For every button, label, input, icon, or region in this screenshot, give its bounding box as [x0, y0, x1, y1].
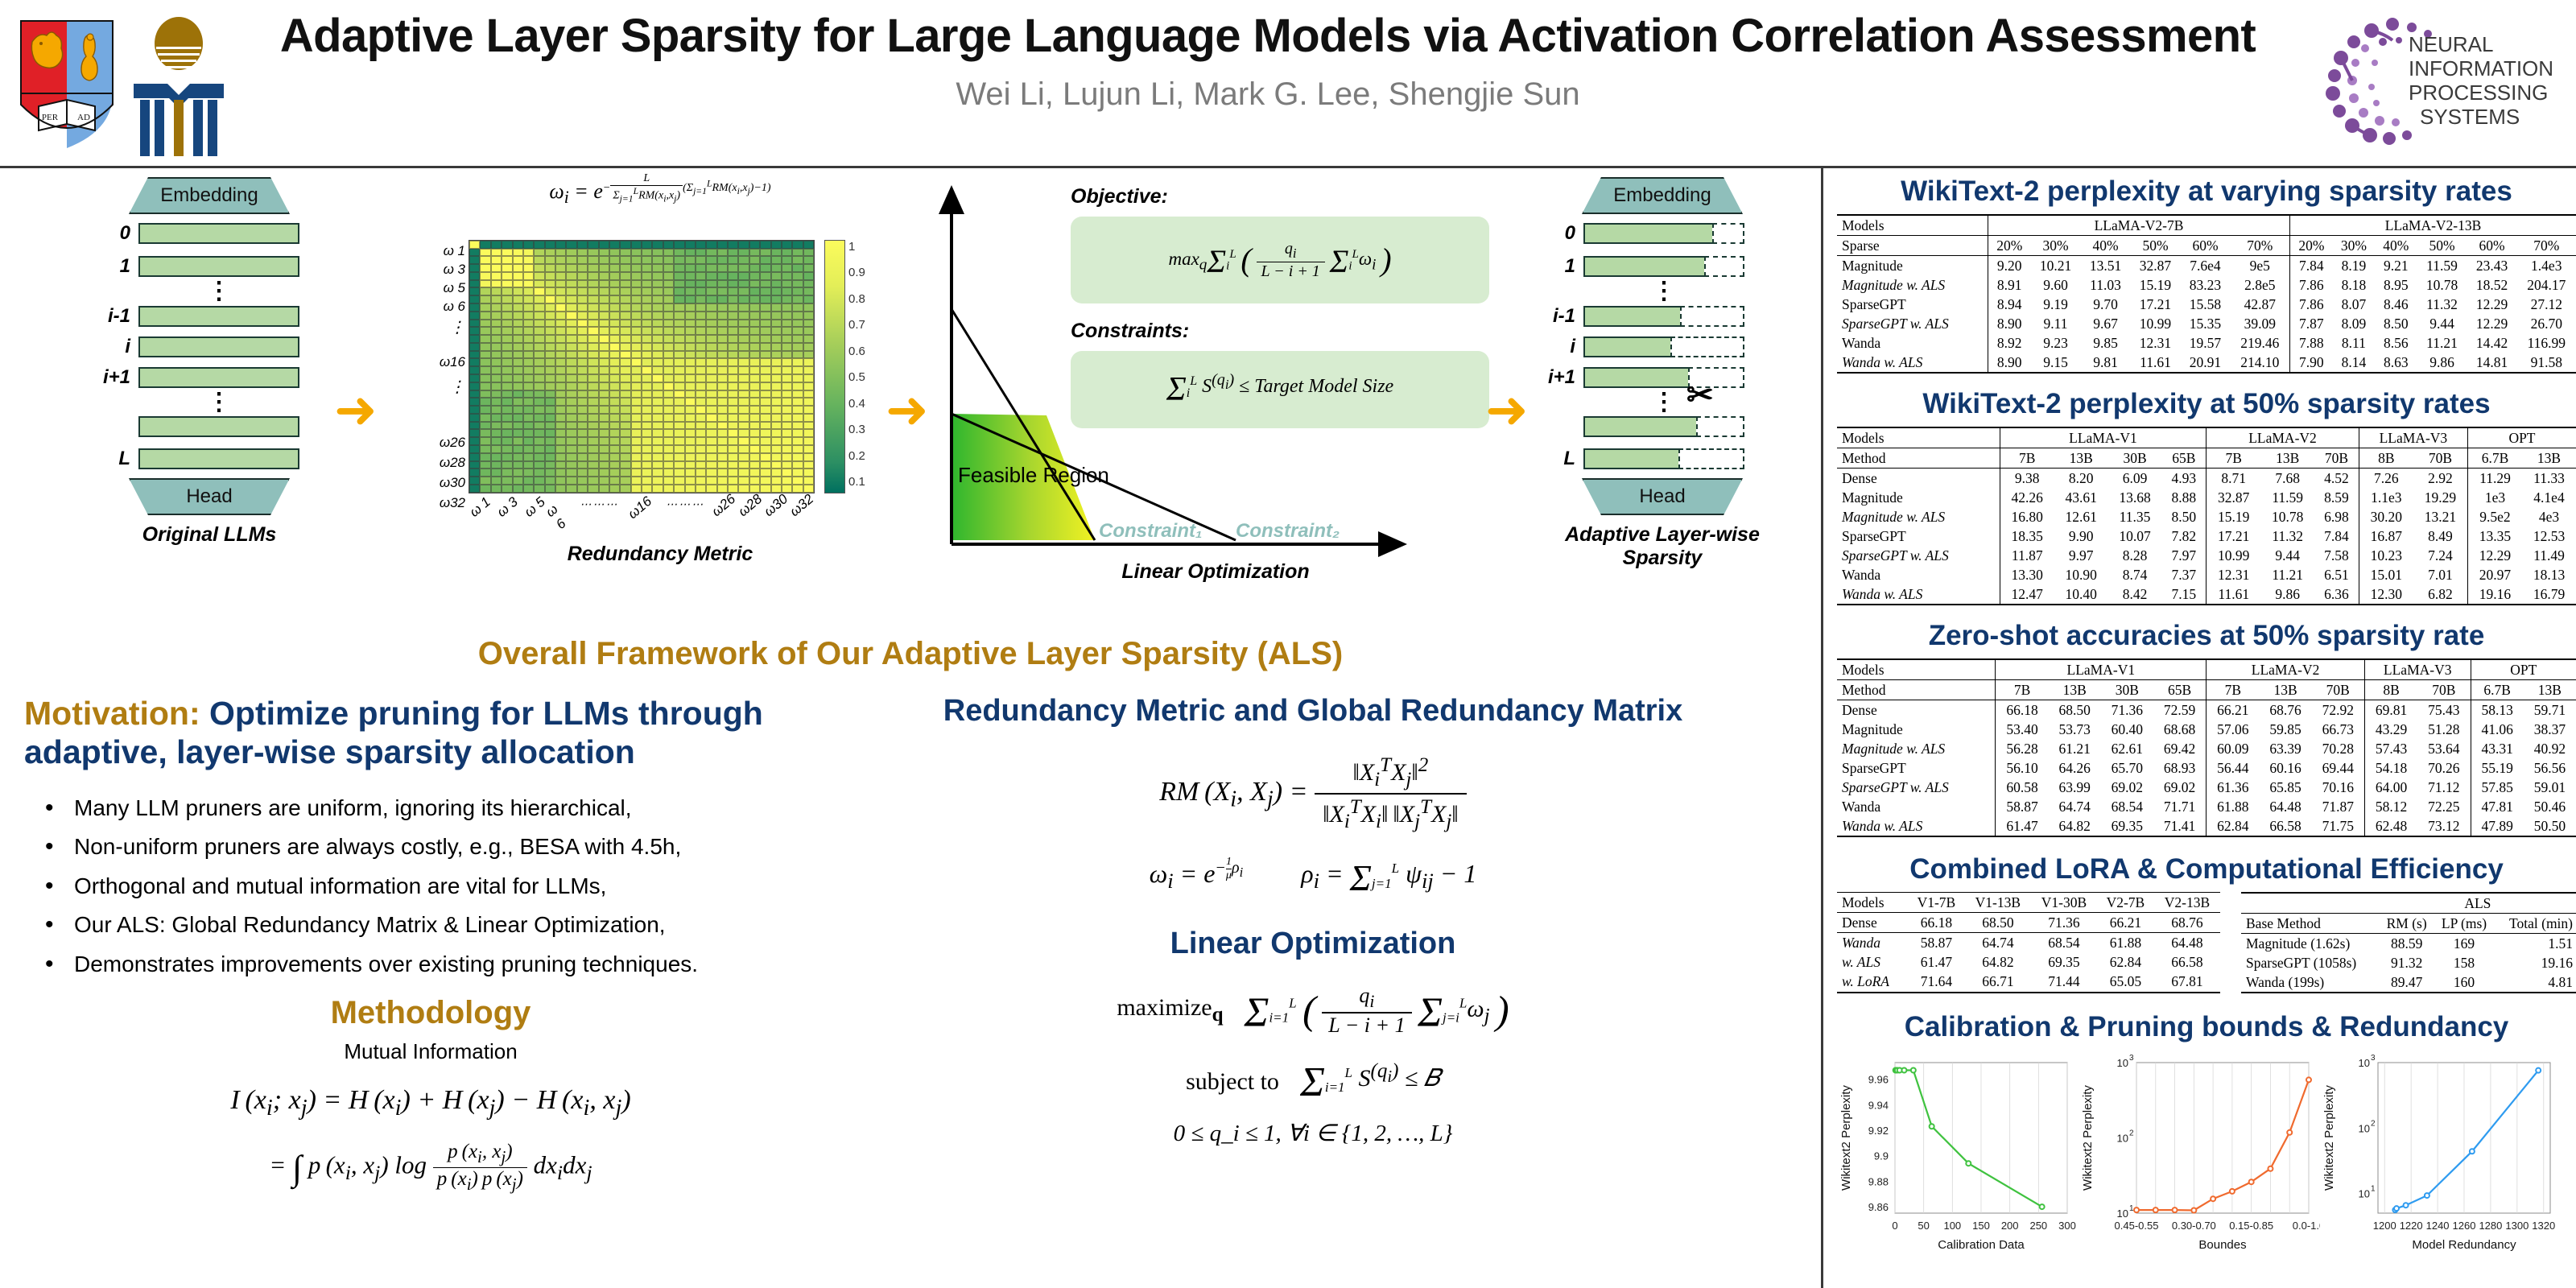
table-cell: 8.19	[2333, 256, 2375, 276]
university-secondary-logo	[127, 10, 230, 159]
heatmap-cell	[717, 477, 728, 485]
table-cell: 70.16	[2312, 778, 2365, 797]
heatmap-cell	[706, 398, 716, 406]
heatmap-cell	[803, 437, 814, 445]
layer-bar-pruned	[1678, 448, 1744, 469]
heatmap-cell	[728, 287, 738, 295]
heatmap-cell	[555, 303, 566, 312]
heatmap-cell	[674, 453, 684, 461]
heatmap-cell	[577, 264, 588, 272]
table-group-header: ModelsLLaMA-V1LLaMA-V2LLaMA-V3OPT	[1837, 659, 2576, 680]
table-cell: LP (ms)	[2434, 914, 2495, 934]
constraint2-label: Constraint₂	[1236, 520, 1340, 543]
table-cell: 68.50	[2049, 700, 2101, 720]
heatmap-cell	[555, 335, 566, 343]
heatmap-cell	[642, 366, 652, 374]
heatmap-cell	[609, 453, 620, 461]
table-cell: 58.13	[2471, 700, 2524, 720]
table-cell: 11.61	[2131, 353, 2181, 373]
heatmap-cell	[642, 358, 652, 366]
heatmap-cell	[599, 390, 609, 398]
heatmap-cell	[609, 256, 620, 264]
heatmap-cell	[652, 406, 663, 414]
heatmap-cell	[480, 477, 490, 485]
heatmap-cell	[609, 390, 620, 398]
heatmap-cell	[749, 256, 760, 264]
heatmap-cell	[803, 406, 814, 414]
table-cell: 30.20	[2359, 507, 2413, 526]
heatmap-cell	[566, 287, 576, 295]
table-cell: 71.64	[1908, 972, 1965, 993]
heatmap-cell	[469, 272, 480, 280]
heatmap-cell	[663, 469, 674, 477]
heatmap-cell	[642, 469, 652, 477]
heatmap-cell	[491, 280, 502, 288]
table-cell: 47.81	[2471, 797, 2524, 816]
heatmap-cell	[491, 469, 502, 477]
heatmap-cell	[674, 422, 684, 430]
heatmap-cell	[782, 414, 792, 422]
heatmap-cell	[696, 295, 706, 303]
heatmap-cell	[663, 437, 674, 445]
heatmap-cell	[728, 429, 738, 437]
heatmap-cell	[749, 249, 760, 257]
heatmap-cell	[652, 303, 663, 312]
table-cell: 50%	[2131, 236, 2181, 256]
table-row: SparseGPT w. ALS8.909.119.6710.9915.3539…	[1837, 314, 2576, 333]
heatmap-cell	[771, 453, 782, 461]
heatmap-cell	[663, 287, 674, 295]
heatmap-cell	[566, 374, 576, 382]
heatmap-cell	[480, 312, 490, 320]
omega-equation: ωi = e −LΣj=1LRM(xi,xj)(Σj=1LRM(xi,xj)−1…	[419, 172, 902, 208]
table-cell: 7.97	[2161, 546, 2206, 565]
heatmap-cell	[599, 422, 609, 430]
table-cell: 11.03	[2081, 275, 2131, 295]
table-cell: 13B	[2054, 448, 2108, 469]
heatmap-cell	[599, 374, 609, 382]
heatmap-cell	[469, 280, 480, 288]
heatmap-cell	[577, 280, 588, 288]
table-cell: 70.28	[2312, 739, 2365, 758]
table-cell: 4.81	[2494, 972, 2576, 993]
heatmap-col-label: ω 1	[467, 490, 498, 520]
heatmap-cell	[663, 327, 674, 335]
heatmap-cell	[652, 477, 663, 485]
university-crest-logo: PER AD	[14, 10, 119, 159]
layer-label-i: i	[1542, 336, 1583, 358]
table-cell: 8.56	[2375, 333, 2417, 353]
heatmap-cell	[513, 422, 523, 430]
heatmap-cell	[663, 382, 674, 390]
table-cell: 42.26	[2000, 488, 2054, 507]
x-tick-label: 150	[1972, 1220, 1990, 1232]
table-cell: 50%	[2417, 236, 2467, 256]
objective-label: Objective:	[1071, 185, 1489, 208]
mutual-information-eq1: I (xi; xj) = H (xi) + H (xj) − H (xi, xj…	[24, 1085, 837, 1121]
heatmap-cell	[642, 272, 652, 280]
heatmap-cell	[663, 406, 674, 414]
heatmap-cell	[502, 351, 512, 359]
heatmap-cell	[534, 422, 544, 430]
heatmap-cell	[523, 320, 534, 328]
table-cell: 8.28	[2108, 546, 2162, 565]
heatmap-cell	[782, 398, 792, 406]
table-cell: 13B	[2522, 448, 2576, 469]
layer-bar-kept	[1583, 223, 1712, 244]
heatmap-cell	[717, 303, 728, 312]
table-cell: 11.61	[2207, 584, 2261, 605]
heatmap-cell	[803, 249, 814, 257]
layer-bar-pruned	[1670, 336, 1744, 357]
heatmap-cell	[792, 272, 803, 280]
heatmap-cell	[706, 422, 716, 430]
heatmap-cell	[782, 429, 792, 437]
heatmap-cell	[588, 320, 598, 328]
layer-bar-kept	[1583, 448, 1678, 469]
table-cell: 10.78	[2417, 275, 2467, 295]
layer-label-i-1: i-1	[97, 305, 138, 328]
heatmap-cell	[502, 414, 512, 422]
motivation-heading: Motivation: Optimize pruning for LLMs th…	[24, 694, 837, 772]
motivation-bullet: Demonstrates improvements over existing …	[45, 947, 837, 982]
heatmap-cell	[513, 280, 523, 288]
constraints-equation-box: ΣiL S(qi) ≤ Target Model Size	[1071, 351, 1489, 428]
table-row-label: Wanda w. ALS	[1837, 584, 2000, 605]
heatmap-cell	[534, 303, 544, 312]
heatmap-cell	[696, 241, 706, 249]
heatmap-cell	[631, 445, 642, 453]
heatmap-cell	[652, 382, 663, 390]
heatmap-cell	[555, 374, 566, 382]
heatmap-cell	[652, 256, 663, 264]
heatmap-cell	[609, 437, 620, 445]
heatmap-cell	[620, 335, 630, 343]
heatmap-cell	[491, 320, 502, 328]
layer-bar-pruned	[1680, 306, 1744, 327]
heatmap-cell	[663, 249, 674, 257]
heatmap-cell	[706, 414, 716, 422]
heatmap-cell	[642, 335, 652, 343]
heatmap-cell	[491, 406, 502, 414]
heatmap-cell	[782, 374, 792, 382]
heatmap-cell	[803, 241, 814, 249]
heatmap-cell	[760, 422, 770, 430]
layer-bar	[138, 256, 299, 277]
heatmap-cell	[782, 437, 792, 445]
heatmap-cell	[588, 249, 598, 257]
heatmap-cell	[760, 414, 770, 422]
lp-bounds-eq: 0 ≤ q_i ≤ 1, ∀i ∈ {1, 2, …, L}	[805, 1119, 1821, 1147]
heatmap-cell	[792, 414, 803, 422]
heatmap-cell	[728, 343, 738, 351]
heatmap-cell	[685, 358, 696, 366]
table-row-label: Magnitude w. ALS	[1837, 507, 2000, 526]
heatmap-cell	[620, 453, 630, 461]
heatmap-cell	[502, 335, 512, 343]
heatmap-cell	[760, 295, 770, 303]
heatmap-cell	[491, 414, 502, 422]
heatmap-cell	[663, 422, 674, 430]
heatmap-cell	[652, 445, 663, 453]
heatmap-cell	[674, 374, 684, 382]
table-cell: 70B	[2417, 680, 2471, 700]
table-cell: 69.02	[2153, 778, 2207, 797]
table-row-label: SparseGPT	[1837, 295, 1988, 314]
heatmap-cell	[642, 445, 652, 453]
heatmap-cell	[738, 335, 749, 343]
heatmap-cell	[523, 437, 534, 445]
heatmap-cell	[674, 295, 684, 303]
center-column: Redundancy Metric and Global Redundancy …	[805, 694, 1821, 1147]
layer-label-i+1: i+1	[1542, 366, 1583, 389]
heatmap-cell	[469, 406, 480, 414]
table-cell: OPT	[2471, 659, 2576, 680]
constraints-label: Constraints:	[1071, 320, 1489, 343]
heatmap-cell	[663, 358, 674, 366]
y-tick-label: 9.88	[1868, 1175, 1889, 1187]
heatmap-cell	[469, 390, 480, 398]
heatmap-cell	[599, 327, 609, 335]
motivation-bullet: Our ALS: Global Redundancy Matrix & Line…	[45, 908, 837, 943]
table-cell: 214.10	[2230, 353, 2289, 373]
table-cell: V1-13B	[1965, 893, 2031, 913]
table-cell: Method	[1837, 680, 1996, 700]
heatmap-cell	[480, 343, 490, 351]
table-cell: 43.61	[2054, 488, 2108, 507]
heatmap-cell	[696, 469, 706, 477]
heatmap-cell	[588, 453, 598, 461]
heatmap-cell	[577, 461, 588, 469]
heatmap-cell	[534, 437, 544, 445]
table-row-label: Wanda	[1837, 933, 1908, 953]
heatmap-cell	[577, 366, 588, 374]
heatmap-cell	[717, 241, 728, 249]
table-cell: 42.87	[2230, 295, 2289, 314]
table-row: Magnitude9.2010.2113.5132.877.6e49e57.84…	[1837, 256, 2576, 276]
heatmap-cell	[513, 406, 523, 414]
heatmap-cell	[631, 461, 642, 469]
heatmap-cell	[771, 382, 782, 390]
heatmap-cell	[792, 406, 803, 414]
x-tick-label: 100	[1943, 1220, 1961, 1232]
heatmap-row-dots: ⋮	[419, 317, 465, 354]
table-group-header: ModelsLLaMA-V1LLaMA-V2LLaMA-V3OPT	[1837, 427, 2576, 448]
table-cell: 69.35	[2101, 816, 2153, 836]
heatmap-cell	[792, 477, 803, 485]
heatmap-cell	[577, 320, 588, 328]
heatmap-cell	[588, 358, 598, 366]
table-cell: 57.06	[2207, 720, 2260, 739]
heatmap-cell	[749, 241, 760, 249]
heatmap-cell	[480, 295, 490, 303]
heatmap-cell	[792, 303, 803, 312]
table-cell: 9.70	[2081, 295, 2131, 314]
heatmap-cell	[738, 303, 749, 312]
table-cell: 8.49	[2413, 526, 2468, 546]
table-cell: 18.35	[2000, 526, 2054, 546]
table-cell: 11.21	[2260, 565, 2314, 584]
heatmap-cell	[771, 295, 782, 303]
table-cell: 7B	[2207, 680, 2260, 700]
heatmap-cell	[588, 287, 598, 295]
x-tick-label: 0.0-1.0	[2293, 1220, 2320, 1232]
heatmap-cell	[491, 327, 502, 335]
table-cell: 7.6e4	[2180, 256, 2230, 276]
table-row: SparseGPT (1058s)91.3215819.16	[2241, 953, 2576, 972]
heatmap-cell	[502, 422, 512, 430]
heatmap-cell	[588, 335, 598, 343]
heatmap-cell	[609, 414, 620, 422]
heatmap-cell	[771, 256, 782, 264]
heatmap-cell	[792, 358, 803, 366]
heatmap-cell	[555, 351, 566, 359]
redundancy-metric-caption: Redundancy Metric	[419, 543, 902, 566]
heatmap-cell	[782, 312, 792, 320]
table-cell: 62.48	[2364, 816, 2417, 836]
table-cell: 16.80	[2000, 507, 2054, 526]
heatmap-cell	[760, 429, 770, 437]
heatmap-cell	[749, 398, 760, 406]
heatmap-cell	[513, 272, 523, 280]
heatmap-cell	[803, 453, 814, 461]
heatmap-cell	[728, 295, 738, 303]
heatmap-cell	[652, 485, 663, 493]
table-cell: 8.50	[2375, 314, 2417, 333]
heatmap-cell	[523, 280, 534, 288]
heatmap-colorbar	[824, 240, 845, 493]
heatmap-cell	[685, 406, 696, 414]
heatmap-cell	[738, 461, 749, 469]
table-cell: 9.11	[2031, 314, 2081, 333]
table-cell: 66.21	[2207, 700, 2260, 720]
heatmap-cell	[588, 477, 598, 485]
layer-bar	[138, 223, 299, 244]
heatmap-cell	[642, 453, 652, 461]
table-cell: 64.26	[2049, 758, 2101, 778]
heatmap-cell	[609, 249, 620, 257]
heatmap-row-label: ω26	[419, 435, 465, 455]
heatmap-cell	[577, 241, 588, 249]
heatmap-cell	[534, 241, 544, 249]
heatmap-cell	[803, 445, 814, 453]
table-cell: 7.86	[2290, 275, 2333, 295]
heatmap-cell	[631, 366, 642, 374]
heatmap-cell	[642, 280, 652, 288]
heatmap-cell	[491, 461, 502, 469]
heatmap-cell	[566, 351, 576, 359]
table-cell: 8.71	[2207, 469, 2261, 489]
heatmap-cell	[545, 256, 555, 264]
heatmap-cell	[717, 406, 728, 414]
heatmap-cell	[523, 422, 534, 430]
heatmap-cell	[717, 272, 728, 280]
heatmap-cell	[717, 249, 728, 257]
heatmap-cell	[599, 437, 609, 445]
heatmap-cell	[652, 312, 663, 320]
heatmap-cell	[674, 241, 684, 249]
heatmap-cell	[674, 351, 684, 359]
heatmap-cell	[749, 453, 760, 461]
table-cell: 8.63	[2375, 353, 2417, 373]
table-row: Wanda13.3010.908.747.3712.3111.216.5115.…	[1837, 565, 2576, 584]
heatmap-cell	[545, 429, 555, 437]
heatmap-cell	[792, 422, 803, 430]
table-cell: LLaMA-V2-13B	[2290, 215, 2576, 236]
table-cell: V1-7B	[1908, 893, 1965, 913]
heatmap-cell	[620, 429, 630, 437]
table4-heading: Combined LoRA & Computational Efficiency	[1837, 853, 2576, 885]
heatmap-cell	[642, 264, 652, 272]
heatmap-cell	[502, 312, 512, 320]
table-row-label: SparseGPT	[1837, 526, 2000, 546]
table-cell: 65.05	[2097, 972, 2154, 993]
heatmap-cell	[599, 406, 609, 414]
heatmap-cell	[480, 461, 490, 469]
heatmap-cell	[469, 414, 480, 422]
y-tick-label: 9.9	[1874, 1150, 1889, 1162]
heatmap-cell	[685, 390, 696, 398]
heatmap-cell	[717, 398, 728, 406]
heatmap-cell	[555, 461, 566, 469]
heatmap-cell	[760, 327, 770, 335]
table-cell: 30%	[2333, 236, 2375, 256]
heatmap-cell	[491, 303, 502, 312]
table-cell: 71.41	[2153, 816, 2207, 836]
table-cell: 64.48	[2154, 933, 2220, 953]
table-cell: 8.95	[2375, 275, 2417, 295]
table-cell: 65.70	[2101, 758, 2153, 778]
heatmap-cell	[534, 406, 544, 414]
heatmap-cell	[674, 312, 684, 320]
heatmap-cell	[674, 477, 684, 485]
table-cell: 32.87	[2207, 488, 2261, 507]
table-cell: 7.15	[2161, 584, 2206, 605]
heatmap-cell	[652, 241, 663, 249]
table-row: Magnitude53.4053.7360.4068.6857.0659.856…	[1837, 720, 2576, 739]
methodology-subheading: Mutual Information	[24, 1039, 837, 1064]
table-cell: 72.59	[2153, 700, 2207, 720]
heatmap-cell	[480, 256, 490, 264]
y-tick-label: 10	[2359, 1188, 2370, 1200]
table-cell: 43.31	[2471, 739, 2524, 758]
heatmap-cell	[749, 422, 760, 430]
table-cell: 62.84	[2207, 816, 2260, 836]
mini-chart-container: 0.45-0.550.30-0.700.15-0.850.0-1.0101102…	[2079, 1050, 2320, 1259]
heatmap-cell	[685, 312, 696, 320]
table-cell: 58.87	[1996, 797, 2049, 816]
heatmap-cell	[792, 485, 803, 493]
heatmap-cell	[599, 241, 609, 249]
table-cell: 70%	[2230, 236, 2289, 256]
layer-bar-kept	[1583, 367, 1688, 388]
heatmap-cell	[696, 335, 706, 343]
poster-header: PER AD Adaptive Layer Sparsity for Large…	[0, 0, 2576, 171]
heatmap-cell	[555, 485, 566, 493]
heatmap-cell	[663, 280, 674, 288]
table-row-label: w. ALS	[1837, 953, 1908, 972]
heatmap-cell	[523, 445, 534, 453]
table-row: Magnitude w. ALS8.919.6011.0315.1983.232…	[1837, 275, 2576, 295]
heatmap-cell	[588, 295, 598, 303]
heatmap-cell	[792, 366, 803, 374]
heatmap-cell	[717, 374, 728, 382]
heatmap-cell	[792, 249, 803, 257]
table-cell: 72.25	[2417, 797, 2471, 816]
heatmap-cell	[620, 295, 630, 303]
heatmap-cell	[771, 414, 782, 422]
heatmap-cell	[545, 287, 555, 295]
